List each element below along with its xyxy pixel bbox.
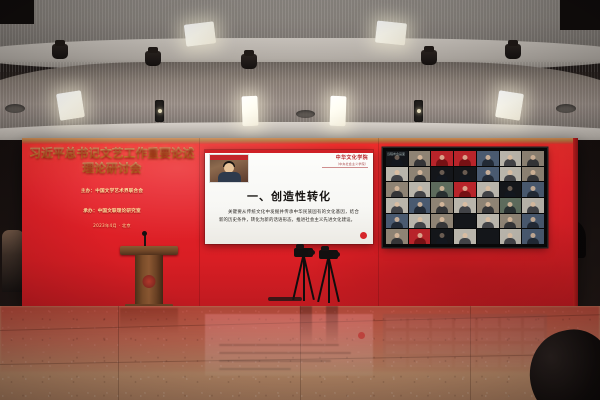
ceiling-corner-right <box>560 0 600 30</box>
video-participant-tile[interactable] <box>409 151 431 166</box>
video-participant-tile[interactable] <box>409 182 431 197</box>
stage-spotlight-icon <box>505 44 521 59</box>
video-participant-tile[interactable] <box>386 167 408 182</box>
side-person-left <box>2 230 24 292</box>
video-participant-tile[interactable] <box>386 182 408 197</box>
ceiling-vent <box>414 100 423 122</box>
conference-hall-photo: 习近平总书记文艺工作重要论述 理论研讨会 主办：中国文学艺术界联合会 承办：中国… <box>0 0 600 400</box>
video-participant-tile[interactable] <box>477 151 499 166</box>
ceiling-panel-light <box>495 90 524 121</box>
video-participant-tile[interactable] <box>431 167 453 182</box>
video-participant-tile[interactable] <box>500 214 522 229</box>
backdrop-top-trim <box>22 138 578 144</box>
slide-red-dot-marker <box>360 232 367 239</box>
video-participant-tile[interactable] <box>500 167 522 182</box>
video-participant-tile[interactable] <box>431 151 453 166</box>
video-participant-tile[interactable] <box>500 182 522 197</box>
banner-title-line-2: 理论研讨会 <box>28 161 196 176</box>
backdrop-red-glow-on-floor <box>0 306 600 372</box>
video-participant-tile[interactable] <box>386 229 408 244</box>
banner-title-line-1: 习近平总书记文艺工作重要论述 <box>28 146 196 161</box>
video-participant-tile[interactable] <box>386 214 408 229</box>
ceiling-vent <box>155 100 164 122</box>
video-participant-tile[interactable] <box>454 229 476 244</box>
podium-top-surface <box>120 246 178 255</box>
video-participant-tile[interactable] <box>500 198 522 213</box>
ceiling-panel-light <box>241 96 258 127</box>
video-participant-tile[interactable] <box>522 198 544 213</box>
slide-top-accent-bar <box>205 150 373 153</box>
video-participant-tile[interactable] <box>386 198 408 213</box>
ceiling-panel-light <box>329 96 346 127</box>
video-participant-tile[interactable] <box>454 214 476 229</box>
speaker-webcam-thumbnail <box>209 154 249 183</box>
video-participant-tile[interactable] <box>477 167 499 182</box>
ceiling-panel-light <box>375 20 407 45</box>
video-participant-tile[interactable] <box>500 229 522 244</box>
video-participant-tile[interactable] <box>431 198 453 213</box>
ceiling-corner-left <box>0 0 34 24</box>
slide-institution-logo: 中华文化学院 （中央社会主义学院） <box>322 156 368 168</box>
ceiling-panel-light <box>184 21 216 46</box>
slide-logo-secondary-text: （中央社会主义学院） <box>322 163 368 166</box>
video-participant-tile[interactable] <box>431 229 453 244</box>
ceiling-oval-vent <box>5 104 25 113</box>
video-participant-tile[interactable] <box>477 229 499 244</box>
video-participant-tile[interactable] <box>522 214 544 229</box>
video-wall-label: 远程参会画面 <box>387 152 405 156</box>
video-camera-icon <box>294 248 313 257</box>
video-participant-tile[interactable] <box>454 198 476 213</box>
banner-host-line-2: 承办：中国文联理论研究室 <box>28 208 196 216</box>
backdrop-seam <box>378 138 379 306</box>
video-participant-tile[interactable] <box>409 229 431 244</box>
slide-heading: 一、创造性转化 <box>205 188 373 204</box>
video-participant-tile[interactable] <box>454 182 476 197</box>
podium-column <box>135 255 163 304</box>
stage-spotlight-icon <box>421 50 437 65</box>
ceiling-oval-vent <box>556 104 576 113</box>
backdrop-right-edge <box>573 138 578 306</box>
ceiling-oval-vent <box>296 110 315 118</box>
stage-spotlight-icon <box>145 51 161 66</box>
polished-stone-floor <box>0 306 600 400</box>
podium-emblem <box>143 275 156 288</box>
video-participant-tile[interactable] <box>409 214 431 229</box>
video-participant-tile[interactable] <box>431 214 453 229</box>
video-conference-wall: 远程参会画面 <box>383 148 547 247</box>
video-participant-tile[interactable] <box>454 167 476 182</box>
speaker-podium <box>120 246 178 314</box>
stage-spotlight-icon <box>52 44 68 59</box>
video-participant-tile[interactable] <box>522 182 544 197</box>
floor-cable <box>268 297 302 301</box>
video-participant-tile[interactable] <box>477 198 499 213</box>
video-participant-tile[interactable] <box>431 182 453 197</box>
video-participant-tile[interactable] <box>409 167 431 182</box>
stage-spotlight-icon <box>241 54 257 69</box>
video-participant-tile[interactable] <box>522 167 544 182</box>
video-participant-tile[interactable] <box>522 151 544 166</box>
video-participant-tile[interactable] <box>522 229 544 244</box>
video-camera-icon <box>319 250 338 259</box>
slide-body-text: 关键要从传统文化中发掘并传承中华民族固有的文化基因，结合新的历史条件，转化为新的… <box>219 209 359 226</box>
banner-text-block: 习近平总书记文艺工作重要论述 理论研讨会 主办：中国文学艺术界联合会 承办：中国… <box>28 146 196 229</box>
video-participant-tile[interactable] <box>477 182 499 197</box>
presentation-slide-screen: 中华文化学院 （中央社会主义学院） 一、创造性转化 关键要从传统文化中发掘并传承… <box>205 150 373 244</box>
video-participant-tile[interactable] <box>454 151 476 166</box>
ceiling-panel-light <box>56 90 85 121</box>
video-participant-tile[interactable] <box>409 198 431 213</box>
slide-logo-primary-text: 中华文化学院 <box>322 156 368 161</box>
video-participant-tile[interactable] <box>500 151 522 166</box>
banner-host-line-1: 主办：中国文学艺术界联合会 <box>28 188 196 196</box>
banner-date: 2023年4月 · 北京 <box>28 223 196 229</box>
ceiling <box>0 0 600 140</box>
backdrop-seam <box>199 138 200 306</box>
video-participant-tile[interactable] <box>477 214 499 229</box>
